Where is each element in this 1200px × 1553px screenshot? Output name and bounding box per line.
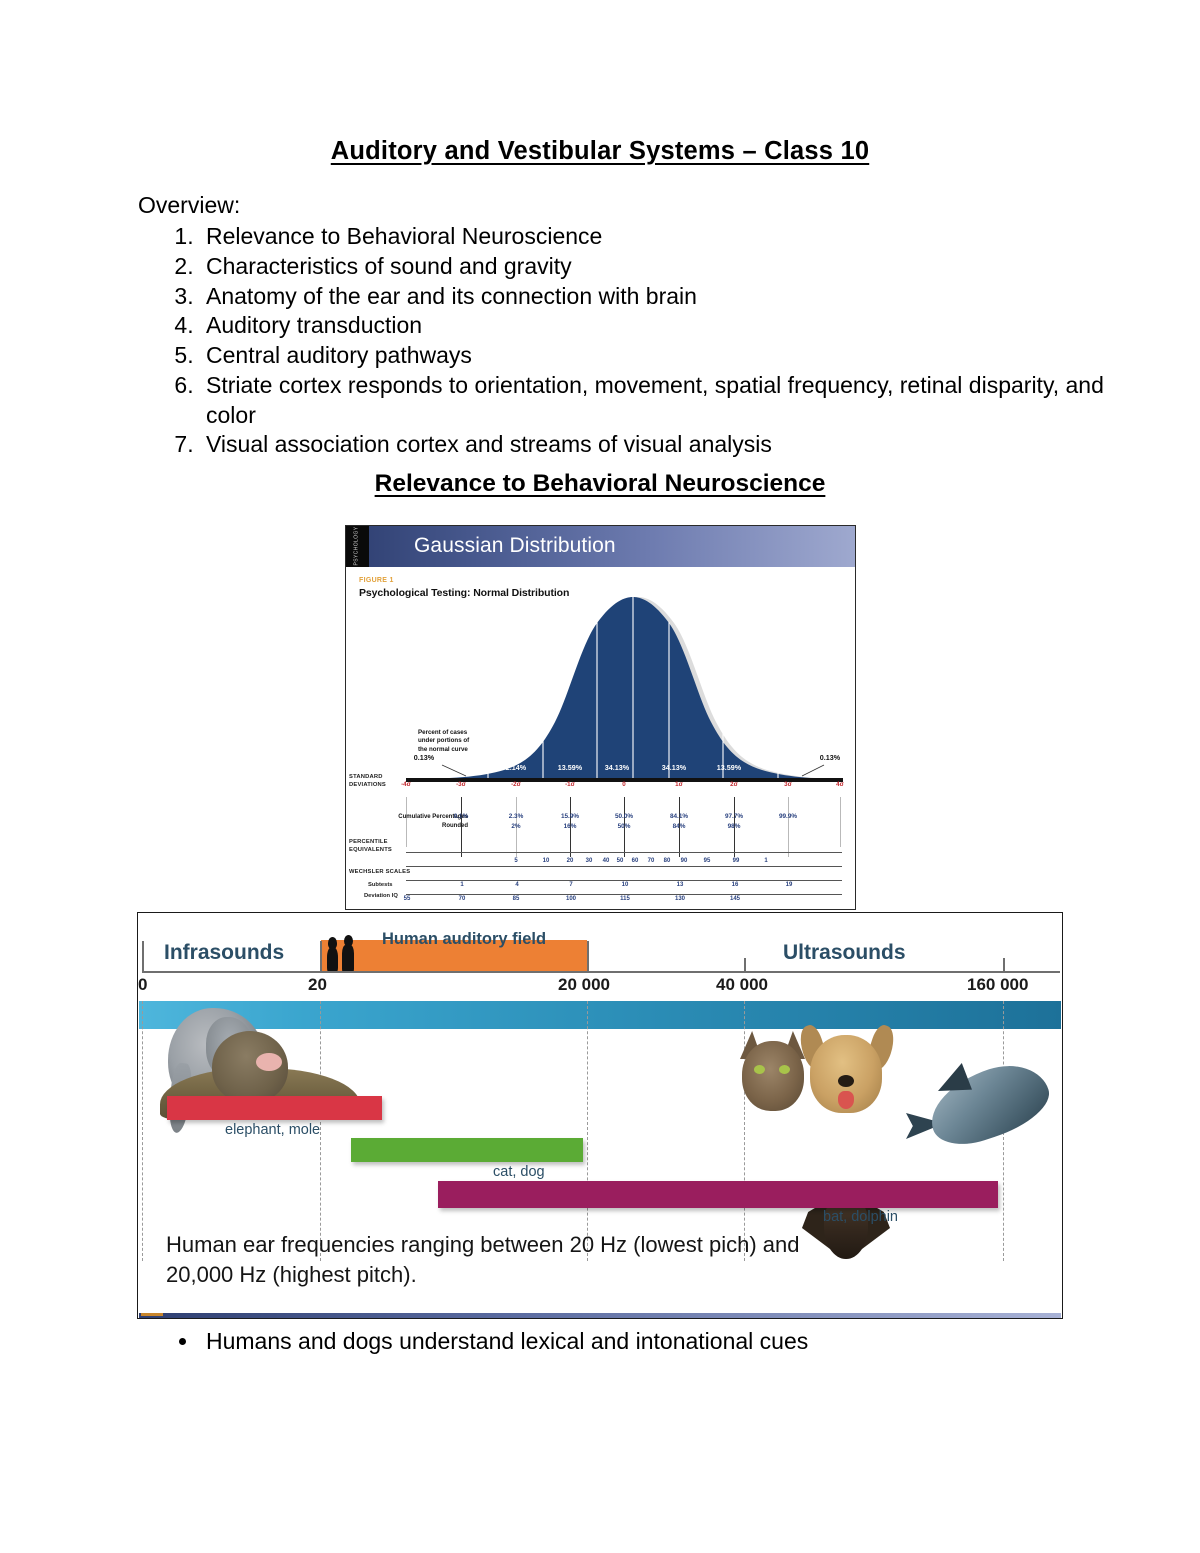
frequency-figure-caption: Human ear frequencies ranging between 20… [166, 1230, 866, 1291]
list-item: Auditory transduction [200, 311, 1120, 341]
sd-tick-2: 2σ [723, 781, 745, 788]
page-title: Auditory and Vestibular Systems – Class … [0, 137, 1200, 166]
range-label-bat-dolphin: bat, dolphin [823, 1209, 898, 1225]
axis-tick-20 [320, 941, 322, 972]
frequency-spectrum-band [139, 1001, 1061, 1029]
percentile-6: 50 [612, 858, 628, 864]
percentile-7: 60 [627, 858, 643, 864]
percentile-3: 20 [562, 858, 578, 864]
percentile-10: 90 [676, 858, 692, 864]
figure-header-bar: PSYCHOLOGY Gaussian Distribution [346, 526, 856, 567]
dog-nose-shape [838, 1075, 854, 1087]
subtests-label: Subtests [368, 882, 392, 888]
overview-list: Relevance to Behavioral Neuroscience Cha… [138, 222, 1120, 460]
frequency-axis-line [142, 971, 1060, 973]
range-bar-cat-dog [351, 1138, 583, 1162]
subtest-5: 16 [724, 882, 746, 888]
band-pct-right-tail: 0.13% [810, 753, 850, 762]
deviq-5: 130 [667, 896, 693, 902]
cum-round-2: 16% [555, 823, 585, 830]
axis-tick-20000 [587, 941, 589, 972]
percentile-8: 70 [643, 858, 659, 864]
cat-eye-left-shape [754, 1065, 765, 1074]
psychology-side-tab: PSYCHOLOGY [346, 526, 369, 567]
cum-pct-1: 2.3% [501, 813, 531, 820]
dolphin-photo [921, 1054, 1057, 1154]
deviq-3: 100 [558, 896, 584, 902]
percentile-2: 10 [538, 858, 554, 864]
percentile-12: 99 [728, 858, 744, 864]
sd-tick--4: -4σ [395, 781, 417, 788]
band-pct-left-tail: 0.13% [404, 753, 444, 762]
sd-tick--2: -2σ [505, 781, 527, 788]
list-item: Striate cortex responds to orientation, … [200, 371, 1120, 431]
percentile-1: 5 [508, 858, 524, 864]
mole-snout-shape [256, 1053, 282, 1071]
bullet-list: Humans and dogs understand lexical and i… [138, 1328, 1058, 1355]
subtest-2: 7 [560, 882, 582, 888]
percentile-equivalents-label: PERCENTILEEQUIVALENTS [349, 839, 392, 854]
axis-label-160000: 160 000 [967, 975, 1028, 995]
dog-tongue-shape [838, 1091, 854, 1109]
sd-tick--1: -1σ [559, 781, 581, 788]
list-item: Visual association cortex and streams of… [200, 430, 1120, 460]
cum-round-1: 2% [501, 823, 531, 830]
band-pct-neg2-neg1: 13.59% [549, 763, 591, 772]
deviq-4: 115 [612, 896, 638, 902]
human-figure-woman-body-icon [327, 947, 338, 973]
band-pct-neg1-0: 34.13% [596, 763, 638, 772]
list-item: Humans and dogs understand lexical and i… [200, 1328, 1058, 1355]
bottom-bullet-section: Humans and dogs understand lexical and i… [138, 1328, 1058, 1355]
page-title-text: Auditory and Vestibular Systems – Class … [331, 137, 869, 165]
cum-pct-4: 84.1% [664, 813, 694, 820]
list-item: Anatomy of the ear and its connection wi… [200, 282, 1120, 312]
range-bar-elephant-mole [167, 1096, 382, 1120]
infrasounds-label: Infrasounds [164, 941, 284, 965]
cat-photo [742, 1041, 804, 1111]
ultrasounds-label: Ultrasounds [783, 941, 906, 965]
cum-pct-2: 15.9% [555, 813, 585, 820]
subtest-6: 19 [778, 882, 800, 888]
sd-tick-1: 1σ [668, 781, 690, 788]
percentile-13: 1 [758, 858, 774, 864]
axis-label-40000: 40 000 [716, 975, 768, 995]
hearing-frequency-range-figure: Infrasounds Human auditory field Ultraso… [137, 912, 1063, 1319]
band-pct-0-1: 34.13% [653, 763, 695, 772]
sd-tick-0: 0 [613, 781, 635, 788]
cat-eye-right-shape [779, 1065, 790, 1074]
band-pct-2-3: 2.14% [761, 763, 801, 772]
sd-tick--3: -3σ [450, 781, 472, 788]
deviq-2: 85 [503, 896, 529, 902]
cum-round-5: 98% [719, 823, 749, 830]
range-label-cat-dog: cat, dog [493, 1164, 545, 1180]
percentile-11: 95 [699, 858, 715, 864]
sd-tick-3: 3σ [777, 781, 799, 788]
guide-40000 [744, 1001, 745, 1261]
axis-label-0: 0 [138, 975, 147, 995]
range-label-elephant-mole: elephant, mole [225, 1122, 320, 1138]
subtest-3: 10 [614, 882, 636, 888]
deviation-iq-label: Deviation IQ [364, 893, 398, 899]
cum-round-3: 50% [609, 823, 639, 830]
gaussian-distribution-figure: PSYCHOLOGY Gaussian Distribution FIGURE … [345, 525, 856, 910]
percentile-4: 30 [581, 858, 597, 864]
list-item: Relevance to Behavioral Neuroscience [200, 222, 1120, 252]
guide-0 [142, 1001, 143, 1261]
wechsler-scales-label: WECHSLER SCALES [349, 869, 410, 875]
grid-rule-4 [840, 797, 841, 847]
cum-round-4: 84% [664, 823, 694, 830]
cum-pct-5: 97.7% [719, 813, 749, 820]
deviq-axis-line [406, 894, 842, 895]
guide-20 [320, 1001, 321, 1261]
wechsler-axis-line [406, 866, 842, 867]
axis-tick-0 [142, 941, 144, 972]
percentile-axis-line [406, 852, 842, 853]
band-pct-1-2: 13.59% [708, 763, 750, 772]
grid-rule-3 [788, 797, 789, 857]
section-heading: Relevance to Behavioral Neuroscience [0, 470, 1200, 498]
axis-tick-40000 [744, 958, 746, 972]
list-item: Central auditory pathways [200, 341, 1120, 371]
subtest-4: 13 [669, 882, 691, 888]
subtests-axis-line [406, 880, 842, 881]
percentile-9: 80 [659, 858, 675, 864]
figure-bottom-strip [139, 1313, 1061, 1318]
section-heading-text: Relevance to Behavioral Neuroscience [375, 470, 826, 497]
cum-pct-0: 0.1% [446, 813, 476, 820]
axis-label-20000: 20 000 [558, 975, 610, 995]
list-item: Characteristics of sound and gravity [200, 252, 1120, 282]
overview-label: Overview: [138, 192, 240, 219]
dolphin-fin-shape [938, 1063, 972, 1091]
axis-tick-160000 [1003, 958, 1005, 972]
axis-label-20: 20 [308, 975, 327, 995]
cum-pct-6: 99.9% [773, 813, 803, 820]
human-figure-man-body-icon [342, 945, 354, 973]
subtest-0: 1 [451, 882, 473, 888]
deviq-1: 70 [449, 896, 475, 902]
band-pct-neg3-neg2: 2.14% [496, 763, 536, 772]
figure-body: FIGURE 1 Psychological Testing: Normal D… [346, 567, 856, 910]
percent-of-cases-note: Percent of casesunder portions ofthe nor… [418, 729, 469, 754]
side-tab-label: PSYCHOLOGY [354, 525, 360, 566]
document-page: Auditory and Vestibular Systems – Class … [0, 0, 1200, 1553]
sd-tick-row: -4σ -3σ -2σ -1σ 0 1σ 2σ 3σ 4σ [346, 781, 856, 801]
subtest-1: 4 [506, 882, 528, 888]
sd-tick-4: 4σ [829, 781, 851, 788]
deviq-6: 145 [722, 896, 748, 902]
cum-pct-3: 50.0% [609, 813, 639, 820]
human-auditory-field-label: Human auditory field [382, 930, 546, 949]
guide-20000 [587, 1001, 588, 1261]
range-bar-bat-dolphin [438, 1181, 998, 1208]
deviq-0: 55 [394, 896, 420, 902]
figure-bottom-strip-accent [141, 1313, 163, 1316]
figure-header-title: Gaussian Distribution [414, 534, 616, 558]
